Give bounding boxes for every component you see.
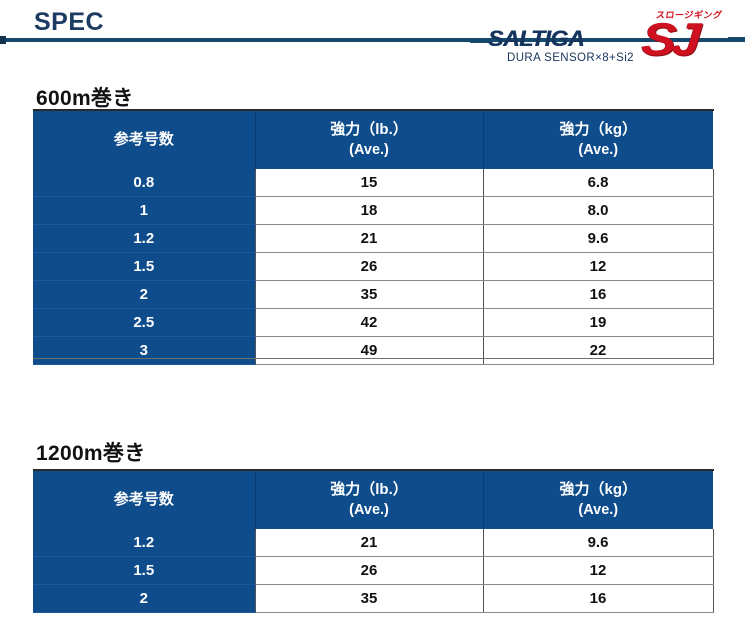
cell-kg: 9.6 — [483, 529, 713, 557]
cell-size: 1.5 — [33, 253, 255, 281]
table-1-bottom-border — [33, 358, 714, 359]
cell-lb: 26 — [255, 253, 483, 281]
cell-lb: 26 — [255, 557, 483, 585]
column-header-lb: 強力（lb.） (Ave.) — [255, 471, 483, 529]
cell-kg: 12 — [483, 557, 713, 585]
cell-size: 2 — [33, 281, 255, 309]
cell-lb: 21 — [255, 529, 483, 557]
brand-wordmark: SALTIGA — [488, 26, 584, 52]
cell-lb: 42 — [255, 309, 483, 337]
spec-table-600m: 参考号数 強力（lb.） (Ave.) 強力（kg） (Ave.) 0.8 15… — [33, 111, 714, 365]
cell-size: 3 — [33, 337, 255, 365]
cell-kg: 22 — [483, 337, 713, 365]
column-header-kg: 強力（kg） (Ave.) — [483, 111, 713, 169]
table-row: 2 35 16 — [33, 585, 713, 613]
table-row: 0.8 15 6.8 — [33, 169, 713, 197]
page-header: SPEC SALTIGA DURA SENSOR×8+Si2 スロージギング S… — [0, 0, 745, 72]
cell-lb: 21 — [255, 225, 483, 253]
table-1-title: 600m巻き — [36, 82, 134, 112]
cell-size: 0.8 — [33, 169, 255, 197]
column-header-lb-label: 強力（lb.） — [330, 121, 408, 138]
column-header-size-label: 参考号数 — [114, 491, 174, 508]
table-row: 2 35 16 — [33, 281, 713, 309]
cell-kg: 9.6 — [483, 225, 713, 253]
model-wordmark: SJ — [640, 16, 698, 62]
table-header-row: 参考号数 強力（lb.） (Ave.) 強力（kg） (Ave.) — [33, 471, 713, 529]
table-header-row: 参考号数 強力（lb.） (Ave.) 強力（kg） (Ave.) — [33, 111, 713, 169]
cell-lb: 35 — [255, 281, 483, 309]
page-title: SPEC — [34, 8, 104, 37]
table-row: 1.2 21 9.6 — [33, 225, 713, 253]
cell-size: 1.2 — [33, 225, 255, 253]
table-row: 1 18 8.0 — [33, 197, 713, 225]
column-header-kg-label: 強力（kg） — [559, 121, 637, 138]
cell-size: 2.5 — [33, 309, 255, 337]
cell-kg: 6.8 — [483, 169, 713, 197]
column-header-kg-label: 強力（kg） — [559, 481, 637, 498]
logo-subtitle: DURA SENSOR×8+Si2 — [507, 52, 634, 64]
column-header-size-label: 参考号数 — [114, 131, 174, 148]
cell-size: 1.5 — [33, 557, 255, 585]
spec-table-1200m: 参考号数 強力（lb.） (Ave.) 強力（kg） (Ave.) 1.2 21… — [33, 471, 714, 613]
cell-kg: 16 — [483, 281, 713, 309]
cell-lb: 49 — [255, 337, 483, 365]
table-row: 3 49 22 — [33, 337, 713, 365]
column-header-kg-sublabel: (Ave.) — [484, 500, 714, 520]
cell-kg: 12 — [483, 253, 713, 281]
cell-kg: 16 — [483, 585, 713, 613]
header-divider-cap — [0, 36, 6, 44]
cell-size: 1.2 — [33, 529, 255, 557]
table-row: 1.2 21 9.6 — [33, 529, 713, 557]
column-header-lb-sublabel: (Ave.) — [256, 140, 483, 160]
cell-size: 2 — [33, 585, 255, 613]
saltiga-sj-logo: SALTIGA DURA SENSOR×8+Si2 スロージギング SJ — [470, 6, 745, 68]
table-row: 1.5 26 12 — [33, 557, 713, 585]
table-2-title: 1200m巻き — [36, 437, 146, 467]
cell-kg: 19 — [483, 309, 713, 337]
column-header-size: 参考号数 — [33, 111, 255, 169]
table-row: 2.5 42 19 — [33, 309, 713, 337]
column-header-lb-sublabel: (Ave.) — [256, 500, 483, 520]
column-header-lb-label: 強力（lb.） — [330, 481, 408, 498]
cell-size: 1 — [33, 197, 255, 225]
column-header-lb: 強力（lb.） (Ave.) — [255, 111, 483, 169]
column-header-size: 参考号数 — [33, 471, 255, 529]
logo-dash-left-icon — [470, 39, 490, 43]
column-header-kg-sublabel: (Ave.) — [484, 140, 714, 160]
cell-lb: 15 — [255, 169, 483, 197]
cell-kg: 8.0 — [483, 197, 713, 225]
table-row: 1.5 26 12 — [33, 253, 713, 281]
column-header-kg: 強力（kg） (Ave.) — [483, 471, 713, 529]
cell-lb: 35 — [255, 585, 483, 613]
cell-lb: 18 — [255, 197, 483, 225]
logo-dash-right-icon — [728, 37, 745, 41]
